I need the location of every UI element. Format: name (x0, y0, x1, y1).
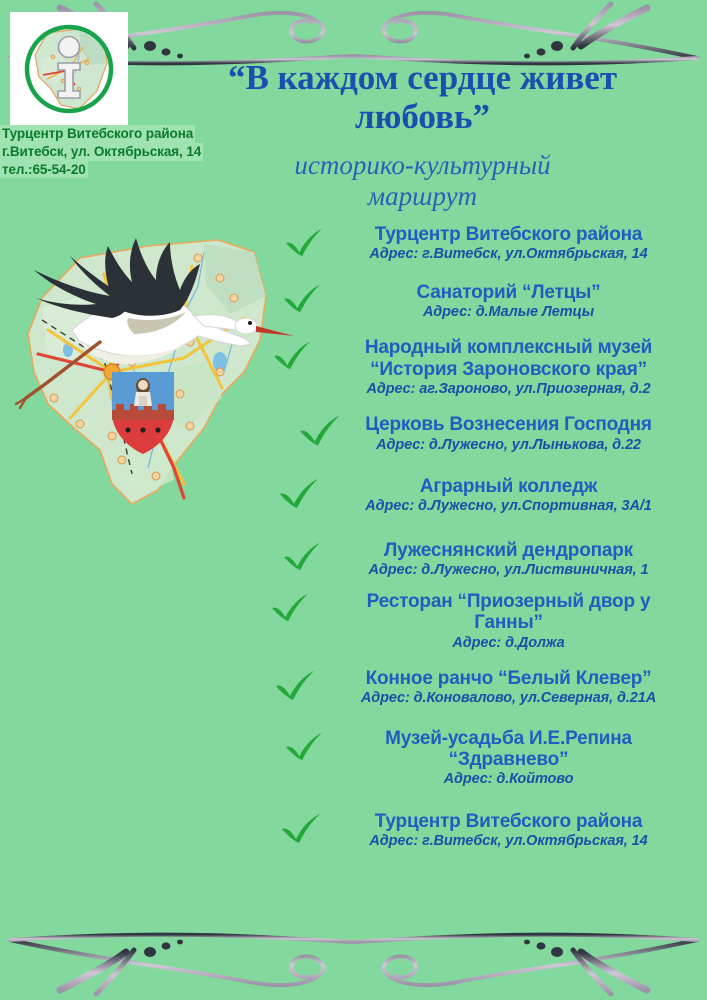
list-item-address: Адрес: аг.Зароново, ул.Приозерная, д.2 (316, 381, 701, 398)
list-item-name: Турцентр Витебского района (316, 224, 701, 245)
list-item-address: Адрес: г.Витебск, ул.Октябрьская, 14 (316, 246, 701, 263)
list-item[interactable]: Музей-усадьба И.Е.Репина “Здравнево” Адр… (268, 728, 707, 789)
list-item[interactable]: Лужеснянский дендропарк Адрес: д.Лужесно… (268, 540, 707, 580)
district-map-artwork (8, 222, 298, 522)
check-icon (278, 811, 324, 845)
page-subtitle-line2: маршрут (170, 181, 675, 212)
list-item-address: Адрес: д.Малые Летцы (316, 304, 701, 321)
route-list: Турцентр Витебского района Адрес: г.Вите… (268, 224, 707, 852)
list-item-address: Адрес: д.Лужесно, ул.Листвиничная, 1 (316, 562, 701, 579)
list-item[interactable]: Народный комплексный музей “История Заро… (268, 337, 707, 398)
check-icon (282, 730, 326, 762)
list-item-address: Адрес: д.Койтово (316, 771, 701, 788)
contact-line-phone: тел.:65-54-20 (0, 161, 88, 179)
list-item[interactable]: Ресторан “Приозерный двор у Ганны” Адрес… (268, 591, 707, 652)
list-item-address: Адрес: д.Лужесно, ул.Лынькова, д.22 (316, 437, 701, 454)
page-title-line1: “В каждом сердце живет (150, 58, 695, 97)
list-item-name: Конное ранчо “Белый Клевер” (316, 668, 701, 689)
list-item-name: Музей-усадьба И.Е.Репина “Здравнево” (316, 728, 701, 771)
list-item-address: Адрес: д.Должа (316, 635, 701, 652)
list-item-address: Адрес: г.Витебск, ул.Октябрьская, 14 (316, 833, 701, 850)
tourist-center-logo (10, 12, 128, 126)
list-item-name: Санаторий “Летцы” (316, 282, 701, 303)
check-icon (280, 540, 324, 572)
list-item-name: Церковь Вознесения Господня (316, 414, 701, 435)
list-item[interactable]: Турцентр Витебского района Адрес: г.Вите… (268, 224, 707, 264)
list-item[interactable]: Аграрный колледж Адрес: д.Лужесно, ул.Сп… (268, 476, 707, 516)
poster-root: Турцентр Витебского района г.Витебск, ул… (0, 0, 707, 1000)
check-icon (276, 476, 322, 510)
check-icon (272, 668, 318, 702)
page-subtitle: историко-культурный маршрут (170, 150, 675, 212)
page-title-line2: любовь” (150, 97, 695, 136)
check-icon (296, 412, 344, 448)
list-item[interactable]: Турцентр Витебского района Адрес: г.Вите… (268, 811, 707, 851)
check-icon (282, 226, 326, 258)
information-map-icon (17, 19, 121, 119)
list-item-name: Лужеснянский дендропарк (316, 540, 701, 561)
list-item-name: Народный комплексный музей “История Заро… (316, 337, 701, 380)
page-subtitle-line1: историко-культурный (170, 150, 675, 181)
list-item-name: Аграрный колледж (316, 476, 701, 497)
list-item[interactable]: Конное ранчо “Белый Клевер” Адрес: д.Кон… (268, 668, 707, 708)
list-item-name: Турцентр Витебского района (316, 811, 701, 832)
list-item-name: Ресторан “Приозерный двор у Ганны” (316, 591, 701, 634)
list-item-address: Адрес: д.Лужесно, ул.Спортивная, 3А/1 (316, 498, 701, 515)
check-icon (270, 339, 314, 371)
list-item[interactable]: Санаторий “Летцы” Адрес: д.Малые Летцы (268, 282, 707, 322)
check-icon (268, 591, 312, 623)
ornament-flourish-bottom (0, 930, 707, 1000)
list-item-address: Адрес: д.Коновалово, ул.Северная, д.21А (316, 690, 701, 707)
check-icon (280, 282, 324, 314)
page-title: “В каждом сердце живет любовь” (150, 58, 695, 136)
list-item[interactable]: Церковь Вознесения Господня Адрес: д.Луж… (268, 414, 707, 454)
